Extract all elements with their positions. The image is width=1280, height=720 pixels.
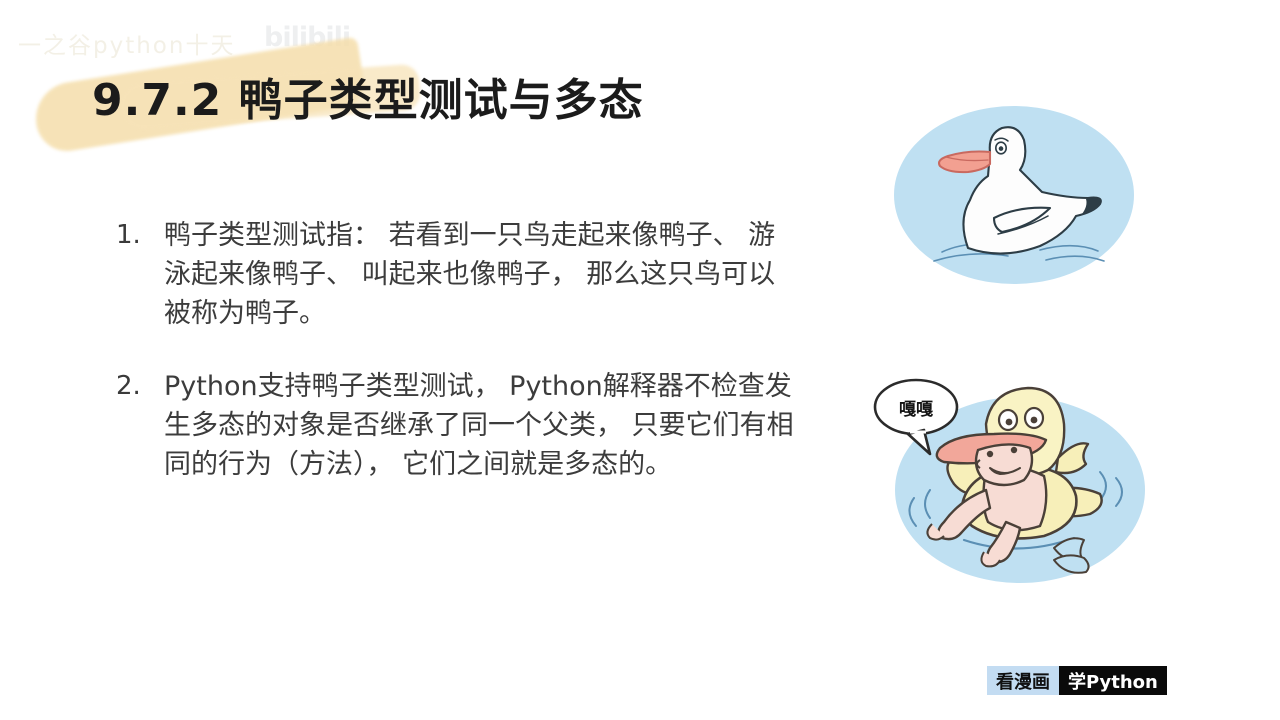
slide-canvas: 一之谷python十天 bilibili 9.7.2 鸭子类型测试与多态 1. … [0, 0, 1280, 720]
list-item: 2. Python支持鸭子类型测试， Python解释器不检查发生多态的对象是否… [116, 367, 796, 484]
brand-logo-right: 学Python [1059, 666, 1167, 695]
page-title: 9.7.2 鸭子类型测试与多态 [92, 64, 644, 128]
duck-illustration [890, 100, 1146, 290]
person-duck-float-illustration: 嘎嘎 [868, 372, 1158, 600]
list-item-text: Python支持鸭子类型测试， Python解释器不检查发生多态的对象是否继承了… [164, 367, 796, 484]
content-list: 1. 鸭子类型测试指： 若看到一只鸟走起来像鸭子、 游泳起来像鸭子、 叫起来也像… [116, 216, 796, 518]
watermark-text: 一之谷python十天 [18, 26, 235, 60]
list-item-number: 2. [116, 367, 164, 406]
brand-logo-left: 看漫画 [987, 666, 1059, 695]
brand-logo: 看漫画 学Python [987, 666, 1167, 695]
speech-bubble-text: 嘎嘎 [899, 400, 933, 420]
list-item-number: 1. [116, 216, 164, 255]
list-item: 1. 鸭子类型测试指： 若看到一只鸟走起来像鸭子、 游泳起来像鸭子、 叫起来也像… [116, 216, 796, 333]
list-item-text: 鸭子类型测试指： 若看到一只鸟走起来像鸭子、 游泳起来像鸭子、 叫起来也像鸭子，… [164, 216, 796, 333]
